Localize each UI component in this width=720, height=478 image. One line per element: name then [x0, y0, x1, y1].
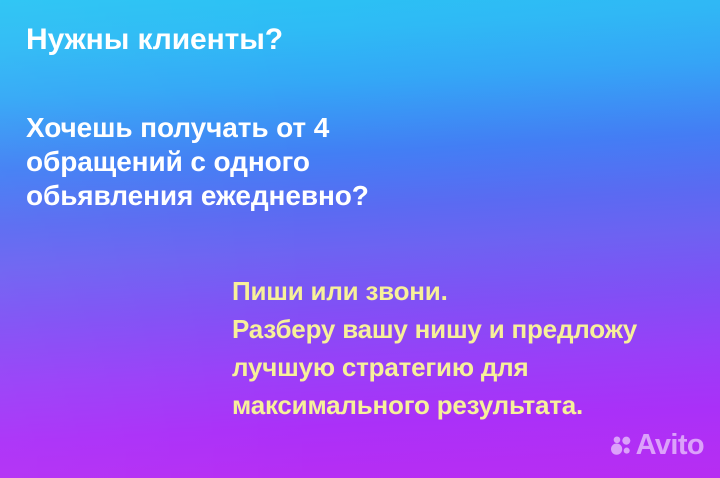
subheadline-line-3: обьявления ежедневно? — [26, 179, 369, 213]
subheadline-block: Хочешь получать от 4 обращений с одного … — [26, 111, 369, 213]
cta-line-1: Пиши или звони. — [232, 272, 637, 310]
subheadline-line-1: Хочешь получать от 4 — [26, 111, 369, 145]
subheadline-line-2: обращений с одного — [26, 145, 369, 179]
ad-banner: Нужны клиенты? Хочешь получать от 4 обра… — [0, 0, 720, 478]
avito-brand-text: Avito — [636, 431, 704, 460]
cta-line-4: максимального результата. — [232, 386, 637, 424]
avito-dots-logo-icon — [610, 435, 632, 457]
cta-block: Пиши или звони. Разберу вашу нишу и пред… — [232, 272, 637, 424]
cta-line-2: Разберу вашу нишу и предложу — [232, 310, 637, 348]
cta-line-3: лучшую стратегию для — [232, 348, 637, 386]
headline: Нужны клиенты? — [26, 23, 283, 57]
avito-watermark: Avito — [610, 431, 704, 460]
